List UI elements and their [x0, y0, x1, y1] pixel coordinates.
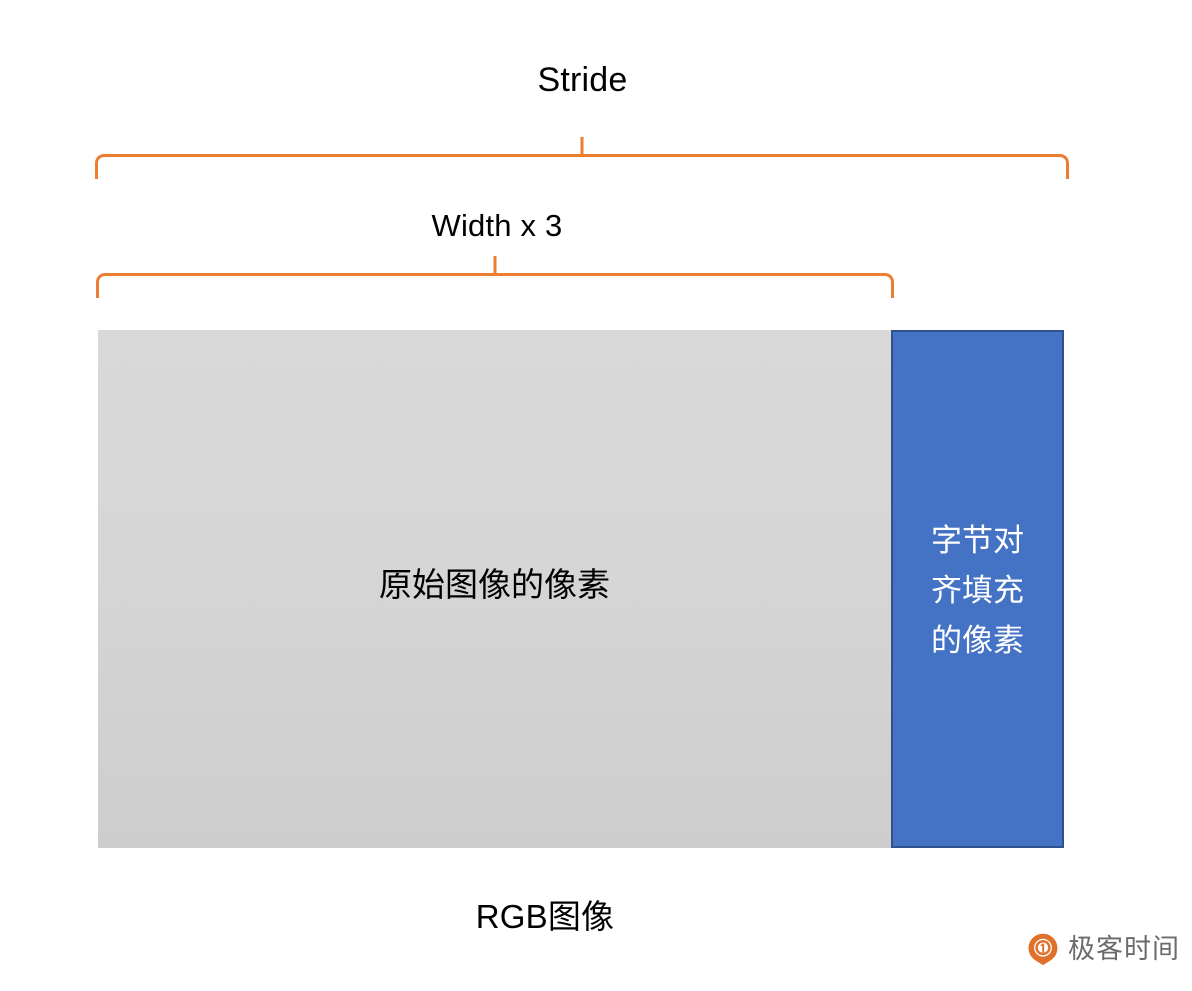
width-brace-center-tick: [494, 256, 497, 275]
width-brace-bar: [96, 273, 894, 298]
figure-caption: RGB图像: [0, 895, 1090, 939]
stride-brace-bar: [95, 154, 1069, 179]
width-brace: [96, 273, 894, 298]
padding-label-line-2: 齐填充: [931, 566, 1024, 616]
padding-label-line-1: 字节对: [931, 516, 1024, 566]
geektime-pin-icon: [1026, 932, 1060, 966]
width-times-three-label: Width x 3: [0, 205, 994, 247]
stride-label: Stride: [0, 58, 1165, 102]
rgb-image-row-figure: 原始图像的像素 字节对 齐填充 的像素: [98, 330, 1064, 848]
padding-label-line-3: 的像素: [931, 616, 1024, 666]
stride-brace: [95, 154, 1069, 179]
diagram-canvas: Stride Width x 3 原始图像的像素 字节对 齐填充 的像素 RGB…: [0, 0, 1192, 991]
original-pixel-region-label: 原始图像的像素: [379, 562, 610, 608]
watermark: 极客时间: [1026, 932, 1180, 966]
watermark-text: 极客时间: [1068, 934, 1180, 964]
original-pixel-region: 原始图像的像素: [98, 330, 891, 848]
padding-pixel-region-label: 字节对 齐填充 的像素: [931, 516, 1024, 666]
padding-pixel-region: 字节对 齐填充 的像素: [891, 330, 1064, 848]
stride-brace-center-tick: [581, 137, 584, 156]
